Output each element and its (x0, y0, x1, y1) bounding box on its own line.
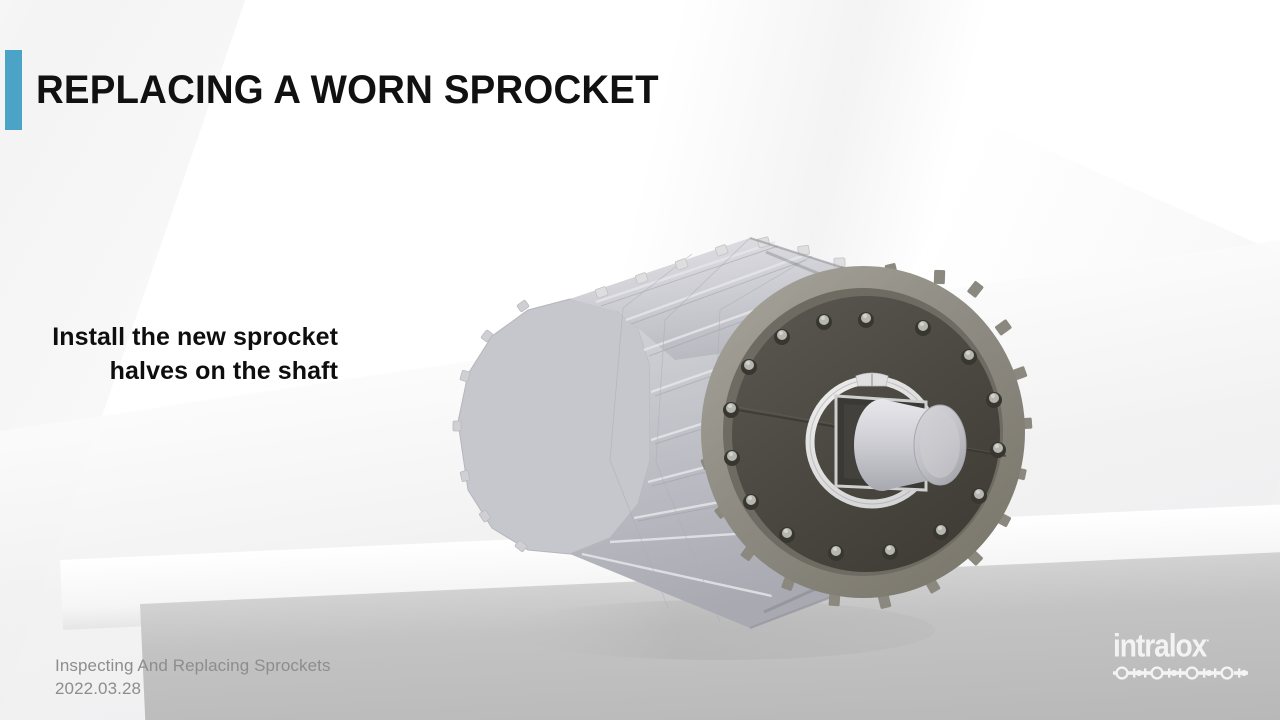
sprocket-assembly-illustration (420, 160, 1040, 680)
chain-belt-icon (1113, 664, 1255, 687)
intralox-logo: intralox· (1113, 624, 1255, 686)
footer: Inspecting And Replacing Sprockets 2022.… (55, 654, 331, 700)
logo-trademark-mark: · (1206, 633, 1210, 648)
footer-date: 2022.03.28 (55, 677, 331, 700)
logo-wordmark-text: intralox (1113, 628, 1206, 664)
logo-wordmark: intralox· (1113, 624, 1238, 663)
instruction-caption: Install the new sprocket halves on the s… (38, 320, 338, 388)
footer-document-title: Inspecting And Replacing Sprockets (55, 654, 331, 677)
page-title: REPLACING A WORN SPROCKET (36, 64, 659, 116)
sprocket-face-plate (700, 263, 1032, 609)
slide-canvas: REPLACING A WORN SPROCKET Install the ne… (0, 0, 1280, 720)
title-accent-bar (5, 50, 22, 130)
